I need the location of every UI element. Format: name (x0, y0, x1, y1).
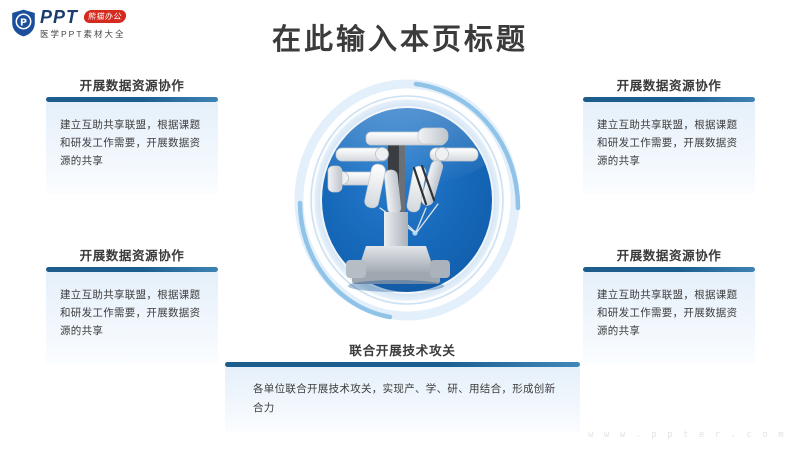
card-title: 开展数据资源协作 (46, 78, 218, 94)
info-card-bottom-center[interactable]: 联合开展技术攻关 各单位联合开展技术攻关，实现产、学、研、用结合，形成创新合力 (225, 343, 580, 432)
slide-canvas: P PPT 熊猫办公 医学PPT素材大全 在此输入本页标题 (0, 0, 800, 450)
card-body: 各单位联合开展技术攻关，实现产、学、研、用结合，形成创新合力 (225, 367, 580, 432)
info-card-top-right[interactable]: 开展数据资源协作 建立互助共享联盟，根据课题和研发工作需要，开展数据资源的共享 (583, 78, 755, 194)
card-body: 建立互助共享联盟，根据课题和研发工作需要，开展数据资源的共享 (583, 102, 755, 194)
card-title: 开展数据资源协作 (583, 78, 755, 94)
info-card-bottom-right[interactable]: 开展数据资源协作 建立互助共享联盟，根据课题和研发工作需要，开展数据资源的共享 (583, 248, 755, 364)
info-card-top-left[interactable]: 开展数据资源协作 建立互助共享联盟，根据课题和研发工作需要，开展数据资源的共享 (46, 78, 218, 194)
center-illustration (270, 58, 540, 348)
site-watermark: w w w . p p t e r . c o m (588, 430, 786, 440)
card-body: 建立互助共享联盟，根据课题和研发工作需要，开展数据资源的共享 (46, 102, 218, 194)
surgical-robot-icon (322, 108, 492, 292)
card-title: 开展数据资源协作 (583, 248, 755, 264)
info-card-bottom-left[interactable]: 开展数据资源协作 建立互助共享联盟，根据课题和研发工作需要，开展数据资源的共享 (46, 248, 218, 364)
card-title: 开展数据资源协作 (46, 248, 218, 264)
card-body: 建立互助共享联盟，根据课题和研发工作需要，开展数据资源的共享 (46, 272, 218, 364)
card-title: 联合开展技术攻关 (225, 343, 580, 359)
page-title: 在此输入本页标题 (0, 16, 800, 58)
card-body: 建立互助共享联盟，根据课题和研发工作需要，开展数据资源的共享 (583, 272, 755, 364)
